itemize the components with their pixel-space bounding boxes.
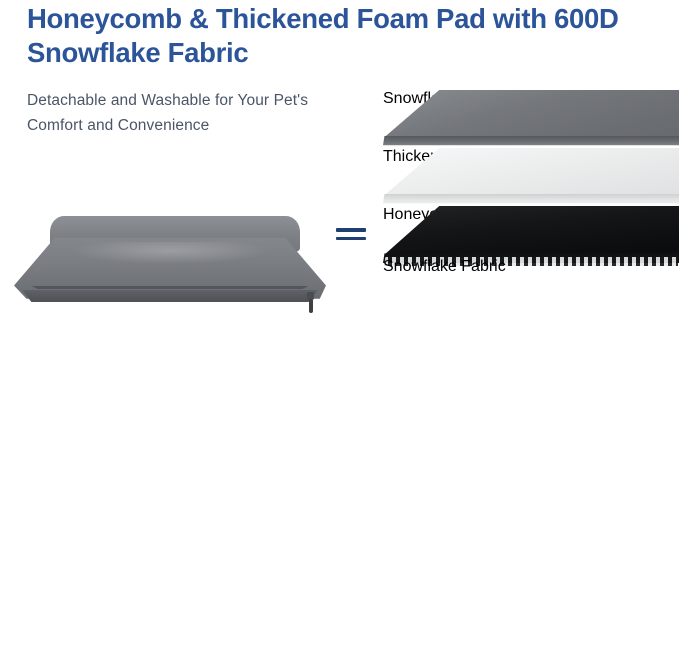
product-pad-image — [10, 216, 330, 316]
pad-highlight — [70, 242, 270, 264]
layer-top-fabric: Snowflake Fabric — [383, 90, 679, 152]
equals-sign-icon — [336, 228, 366, 244]
layer-foam: Thickened Polyethylene Foam — [383, 148, 679, 210]
page-subtitle: Detachable and Washable for Your Pet's C… — [27, 88, 357, 138]
layer-bottom-fabric: Snowflake Fabric — [383, 258, 679, 316]
pad-bottom-edge — [16, 290, 324, 302]
top-section: Honeycomb & Thickened Foam Pad with 600D… — [0, 0, 679, 345]
product-infographic: Honeycomb & Thickened Foam Pad with 600D… — [0, 0, 679, 654]
zipper-icon — [306, 292, 315, 314]
page-title: Honeycomb & Thickened Foam Pad with 600D… — [27, 2, 647, 70]
layer-edge — [383, 301, 679, 316]
layer-stack-diagram: Snowflake Fabric Thickened Polyethylene … — [383, 90, 679, 308]
pad-seam — [26, 286, 314, 289]
